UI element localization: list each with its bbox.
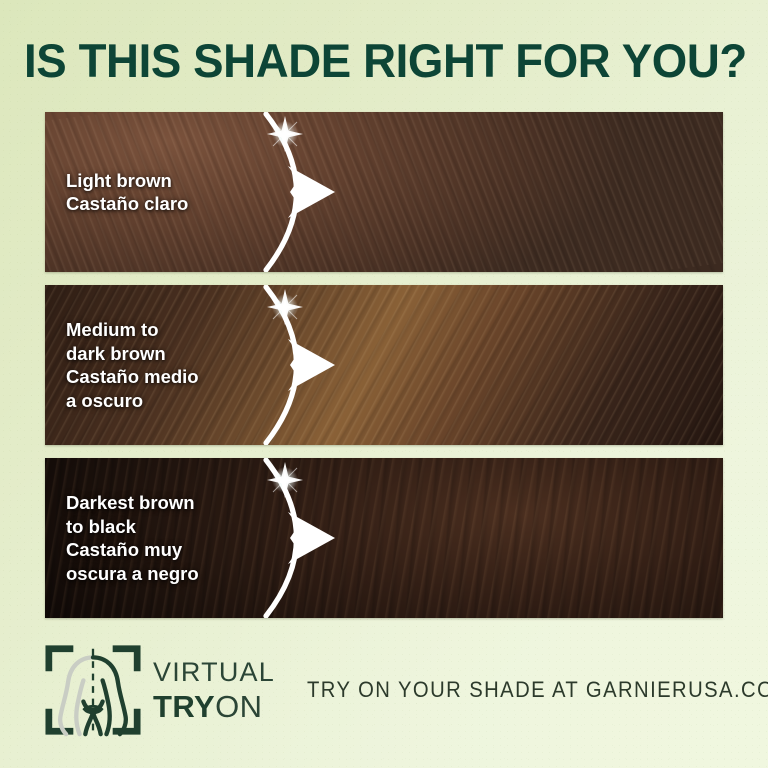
shade-panel-caption: Light brown Castaño claro (66, 112, 188, 272)
virtual-try-on-wordmark: VIRTUAL TRYON (153, 659, 275, 722)
shade-panel-caption: Medium to dark brown Castaño medio a osc… (66, 285, 199, 445)
shade-panel-darkest-brown-to-black[interactable]: Darkest brown to black Castaño muy oscur… (45, 458, 723, 618)
footer: VIRTUAL TRYON TRY ON YOUR SHADE AT GARNI… (45, 640, 735, 740)
shade-panel-light-brown[interactable]: Light brown Castaño claro (45, 112, 723, 272)
face-scan-icon (45, 642, 141, 738)
virtual-try-on-logo[interactable]: VIRTUAL TRYON (45, 642, 275, 738)
shade-panel-list: Light brown Castaño claro (45, 112, 723, 631)
poster-root: IS THIS SHADE RIGHT FOR YOU? (0, 0, 768, 768)
logo-word-try: TRY (153, 689, 215, 724)
shade-panel-caption: Darkest brown to black Castaño muy oscur… (66, 458, 199, 618)
logo-line-tryon: TRYON (153, 691, 275, 722)
logo-word-on: ON (215, 689, 262, 724)
page-title: IS THIS SHADE RIGHT FOR YOU? (24, 36, 726, 86)
footer-cta-text: TRY ON YOUR SHADE AT GARNIERUSA.COM (307, 677, 768, 703)
logo-line-virtual: VIRTUAL (153, 659, 275, 686)
shade-panel-medium-to-dark-brown[interactable]: Medium to dark brown Castaño medio a osc… (45, 285, 723, 445)
